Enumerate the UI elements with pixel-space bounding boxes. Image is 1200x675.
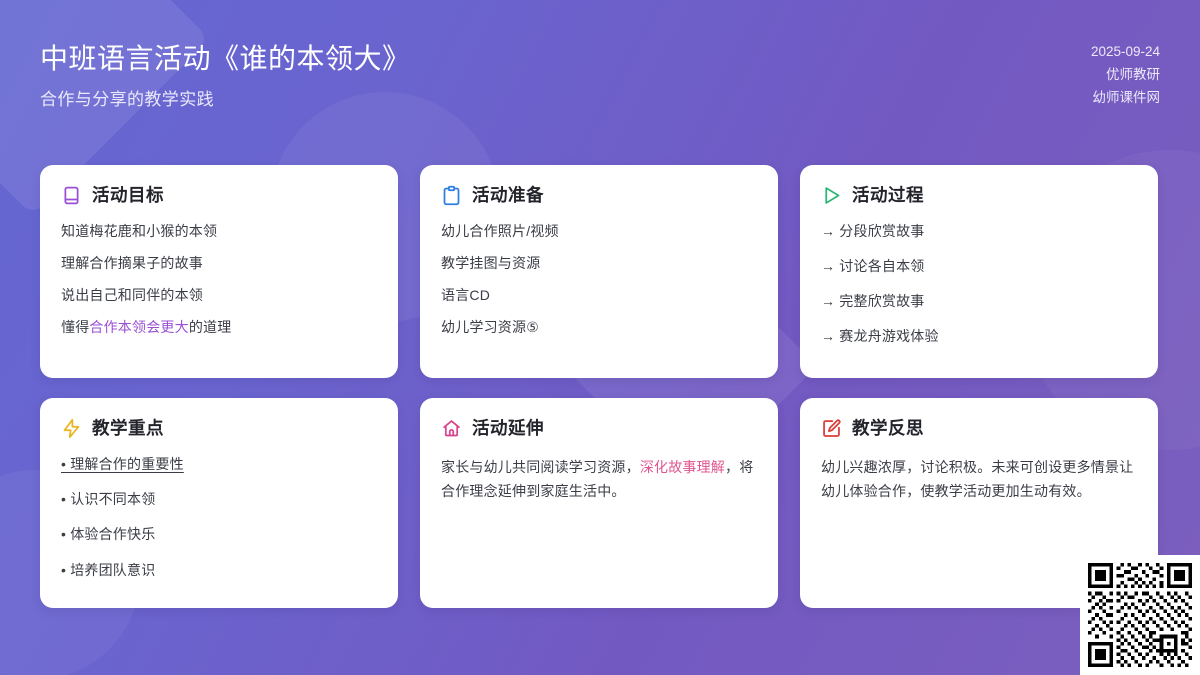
list-item: • 体验合作快乐: [61, 525, 377, 543]
clipboard-icon: [441, 185, 462, 206]
card-activity-goal[interactable]: 活动目标 知道梅花鹿和小猴的本领 理解合作摘果子的故事 说出自己和同伴的本领 懂…: [40, 165, 398, 378]
list-item: • 理解合作的重要性: [61, 455, 377, 473]
highlight-text: 深化故事理解: [640, 459, 725, 475]
card-header: 活动延伸: [441, 418, 757, 439]
book-icon: [61, 185, 82, 206]
slide-root: 中班语言活动《谁的本领大》 合作与分享的教学实践 2025-09-24 优师教研…: [0, 0, 1200, 675]
card-header: 活动过程: [821, 185, 1137, 206]
text-prefix: 懂得: [61, 319, 89, 335]
list-item: • 培养团队意识: [61, 561, 377, 579]
card-header: 教学反思: [821, 418, 1137, 439]
list-item: 说出自己和同伴的本领: [61, 286, 377, 305]
card-grid: 活动目标 知道梅花鹿和小猴的本领 理解合作摘果子的故事 说出自己和同伴的本领 懂…: [40, 165, 1160, 608]
qr-code-container: [1080, 555, 1200, 675]
list-item: • 认识不同本领: [61, 490, 377, 508]
list-item: → 分段欣赏故事: [821, 222, 1137, 241]
page-subtitle: 合作与分享的教学实践: [40, 89, 214, 111]
text-suffix: 的道理: [189, 319, 232, 335]
card-title: 教学反思: [852, 420, 924, 438]
card-body: 幼儿合作照片/视频 教学挂图与资源 语言CD 幼儿学习资源⑤: [441, 222, 757, 337]
slide-header: 中班语言活动《谁的本领大》 合作与分享的教学实践 2025-09-24 优师教研…: [0, 0, 1200, 150]
meta-site: 幼师课件网: [1091, 86, 1160, 109]
highlight-text: 合作本领会更大: [89, 319, 188, 335]
home-icon: [441, 418, 462, 439]
card-body: 知道梅花鹿和小猴的本领 理解合作摘果子的故事 说出自己和同伴的本领 懂得合作本领…: [61, 222, 377, 337]
edit-square-icon: [821, 418, 842, 439]
paragraph: 幼儿兴趣浓厚，讨论积极。未来可创设更多情景让幼儿体验合作，使教学活动更加生动有效…: [821, 455, 1137, 503]
list-item: 教学挂图与资源: [441, 254, 757, 273]
card-activity-process[interactable]: 活动过程 → 分段欣赏故事 → 讨论各自本领 → 完整欣赏故事 → 赛龙舟游戏体…: [800, 165, 1158, 378]
list-item: 知道梅花鹿和小猴的本领: [61, 222, 377, 241]
card-body: 家长与幼儿共同阅读学习资源，深化故事理解，将合作理念延伸到家庭生活中。: [441, 455, 757, 503]
play-icon: [821, 185, 842, 206]
card-activity-preparation[interactable]: 活动准备 幼儿合作照片/视频 教学挂图与资源 语言CD 幼儿学习资源⑤: [420, 165, 778, 378]
paragraph: 家长与幼儿共同阅读学习资源，深化故事理解，将合作理念延伸到家庭生活中。: [441, 455, 757, 503]
card-body: 幼儿兴趣浓厚，讨论积极。未来可创设更多情景让幼儿体验合作，使教学活动更加生动有效…: [821, 455, 1137, 503]
card-header: 活动准备: [441, 185, 757, 206]
list-item: → 讨论各自本领: [821, 257, 1137, 276]
list-item: → 完整欣赏故事: [821, 292, 1137, 311]
meta-date: 2025-09-24: [1091, 40, 1160, 63]
card-header: 教学重点: [61, 418, 377, 439]
meta-org: 优师教研: [1091, 63, 1160, 86]
card-teaching-focus[interactable]: 教学重点 • 理解合作的重要性 • 认识不同本领 • 体验合作快乐 • 培养团队…: [40, 398, 398, 608]
list-item-highlighted: 懂得合作本领会更大的道理: [61, 318, 377, 337]
card-title: 活动准备: [472, 187, 544, 205]
list-item: 理解合作摘果子的故事: [61, 254, 377, 273]
card-header: 活动目标: [61, 185, 377, 206]
card-body: • 理解合作的重要性 • 认识不同本领 • 体验合作快乐 • 培养团队意识: [61, 455, 377, 579]
header-meta: 2025-09-24 优师教研 幼师课件网: [1091, 40, 1160, 110]
list-item: 幼儿学习资源⑤: [441, 318, 757, 337]
list-item: 语言CD: [441, 286, 757, 305]
list-item: → 赛龙舟游戏体验: [821, 327, 1137, 346]
card-title: 活动过程: [852, 187, 924, 205]
list-item: 幼儿合作照片/视频: [441, 222, 757, 241]
card-body: → 分段欣赏故事 → 讨论各自本领 → 完整欣赏故事 → 赛龙舟游戏体验: [821, 222, 1137, 346]
card-title: 教学重点: [92, 420, 164, 438]
card-title: 活动目标: [92, 187, 164, 205]
text-prefix: 家长与幼儿共同阅读学习资源，: [441, 459, 640, 475]
card-title: 活动延伸: [472, 420, 544, 438]
page-title: 中班语言活动《谁的本领大》: [40, 41, 411, 76]
card-activity-extension[interactable]: 活动延伸 家长与幼儿共同阅读学习资源，深化故事理解，将合作理念延伸到家庭生活中。: [420, 398, 778, 608]
lightning-icon: [61, 418, 82, 439]
qr-code: [1088, 563, 1192, 667]
